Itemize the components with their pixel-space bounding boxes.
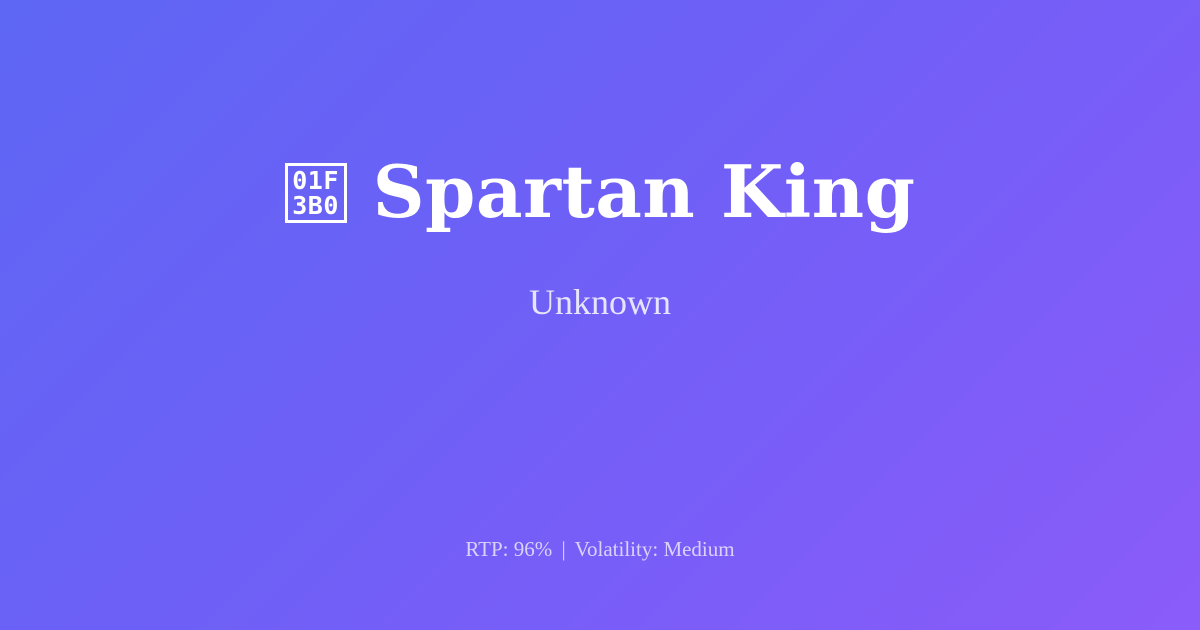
game-stats-line: RTP: 96% | Volatility: Medium: [0, 537, 1200, 562]
volatility-label: Volatility:: [575, 537, 659, 561]
title-row: 01F 3B0 Spartan King: [285, 154, 916, 230]
rtp-label: RTP:: [465, 537, 508, 561]
volatility-value: Medium: [663, 537, 734, 561]
rtp-value: 96%: [514, 537, 553, 561]
game-og-card: 01F 3B0 Spartan King Unknown RTP: 96% | …: [0, 0, 1200, 630]
stats-separator: |: [557, 537, 569, 561]
slot-machine-icon: 01F 3B0: [285, 163, 347, 223]
hero-section: 01F 3B0 Spartan King Unknown: [0, 0, 1200, 478]
tofu-codepoint-top: 01F: [292, 168, 339, 193]
game-title: Spartan King: [373, 154, 916, 230]
game-provider-subtitle: Unknown: [529, 281, 671, 324]
tofu-codepoint-bottom: 3B0: [292, 193, 339, 218]
